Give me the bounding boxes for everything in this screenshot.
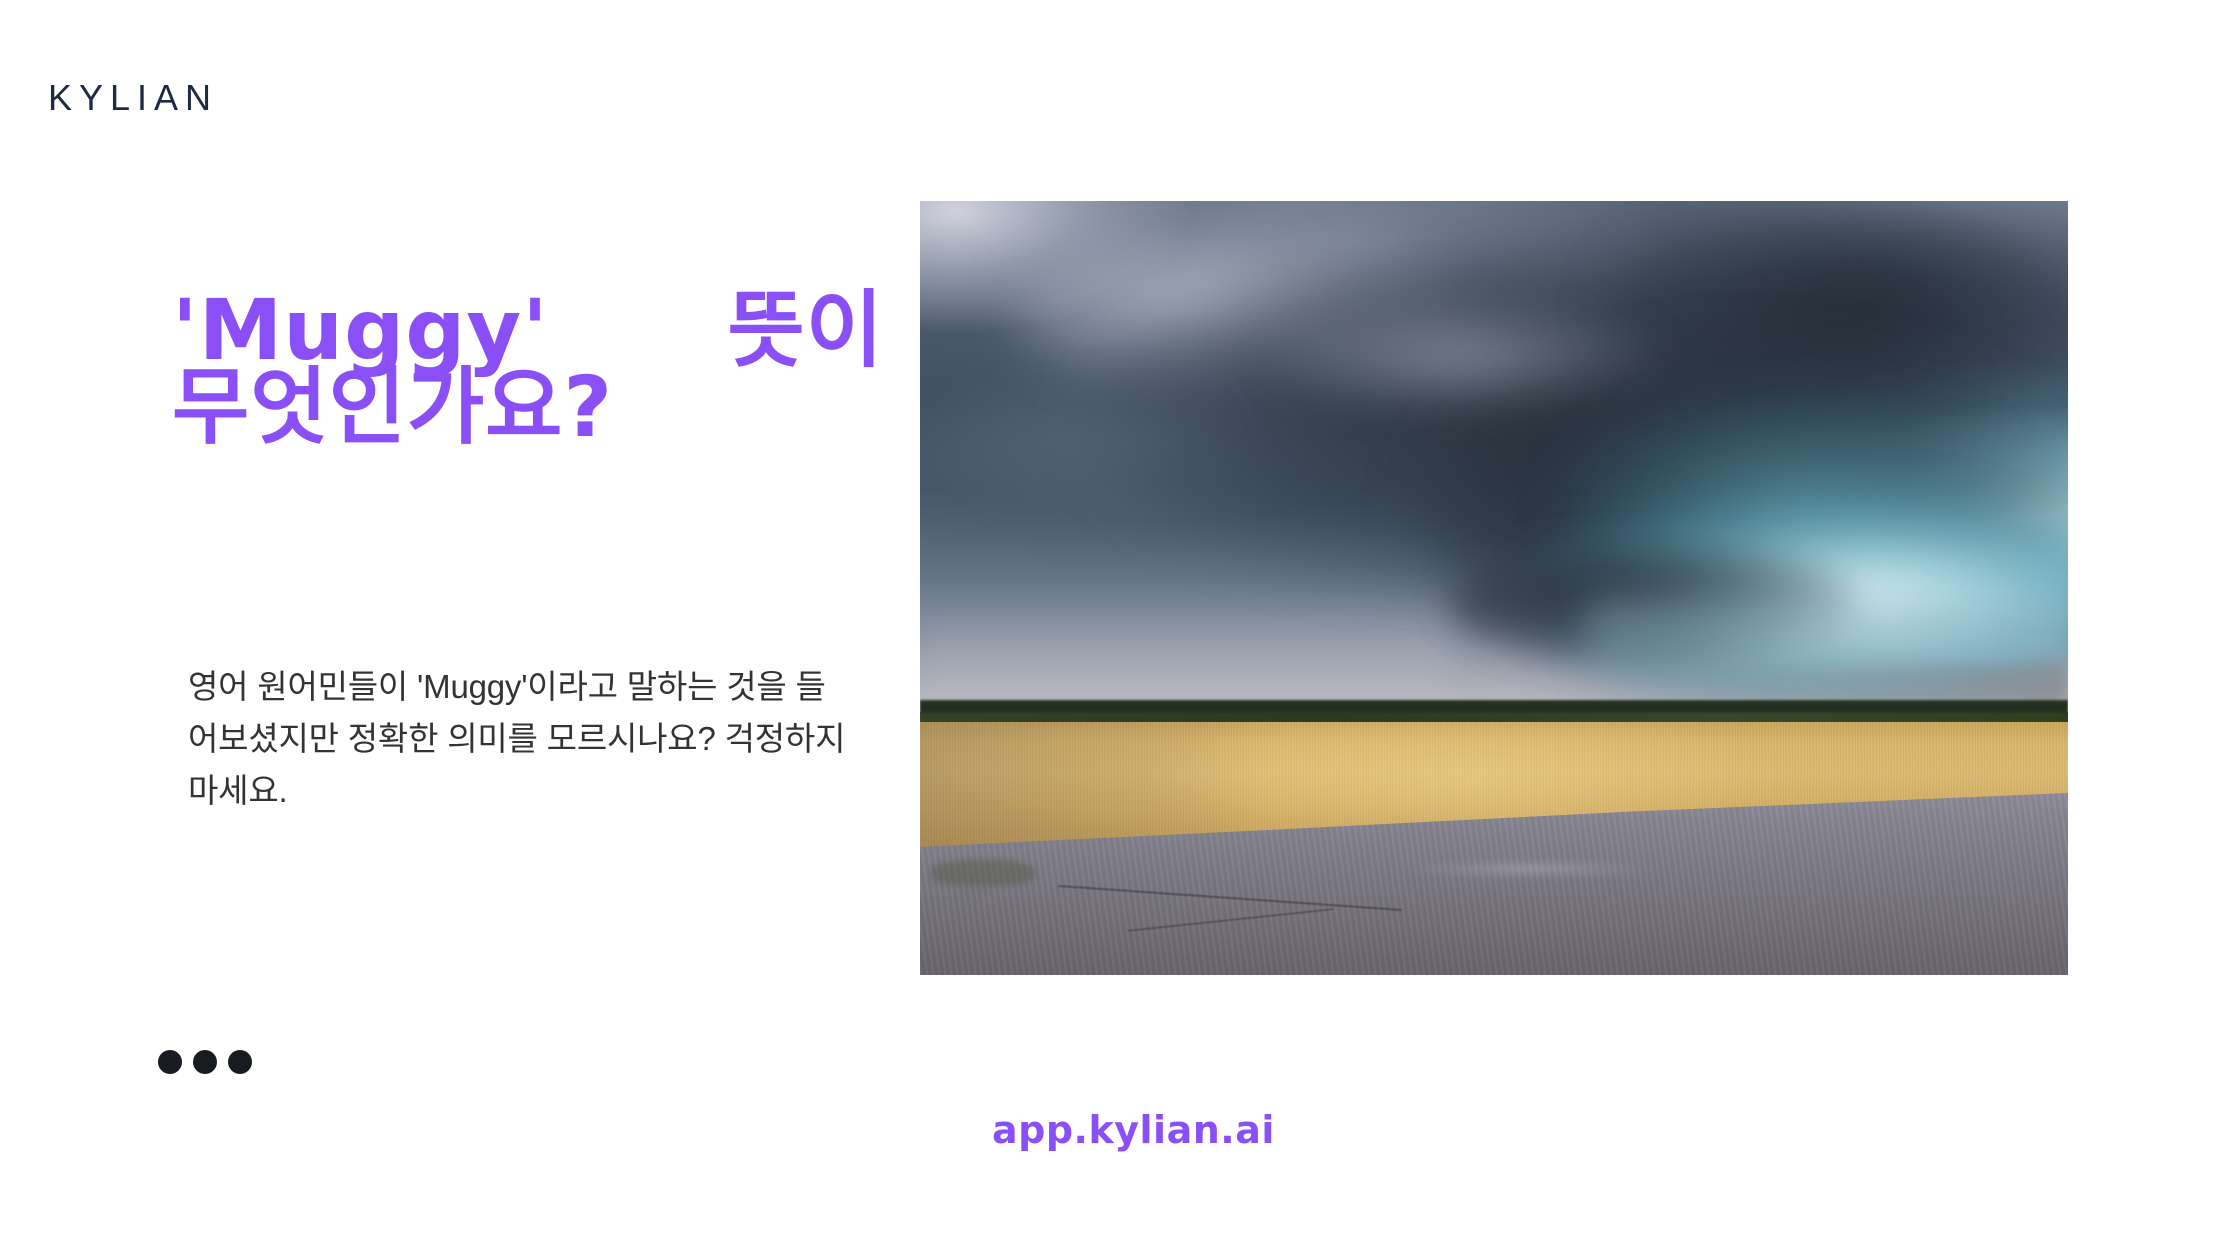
page-title: 'Muggy' 뜻이 무엇인가요?	[172, 292, 884, 447]
dots-decoration	[158, 1050, 252, 1074]
footer-url[interactable]: app.kylian.ai	[992, 1108, 1275, 1152]
road-patch	[931, 860, 1034, 886]
dot-icon	[158, 1050, 182, 1074]
road-wet-spot	[1402, 860, 1655, 879]
brand-logo: KYLIAN	[48, 80, 218, 116]
photo-layers	[920, 201, 2068, 975]
slide-canvas: KYLIAN 'Muggy' 뜻이 무엇인가요? 영어 원어민들이 'Muggy…	[0, 0, 2240, 1260]
headline-line-2: 무엇인가요?	[172, 369, 884, 446]
body-paragraph: 영어 원어민들이 'Muggy'이라고 말하는 것을 들어보셨지만 정확한 의미…	[188, 661, 848, 817]
hero-photo	[920, 201, 2068, 975]
dot-icon	[228, 1050, 252, 1074]
dot-icon	[193, 1050, 217, 1074]
